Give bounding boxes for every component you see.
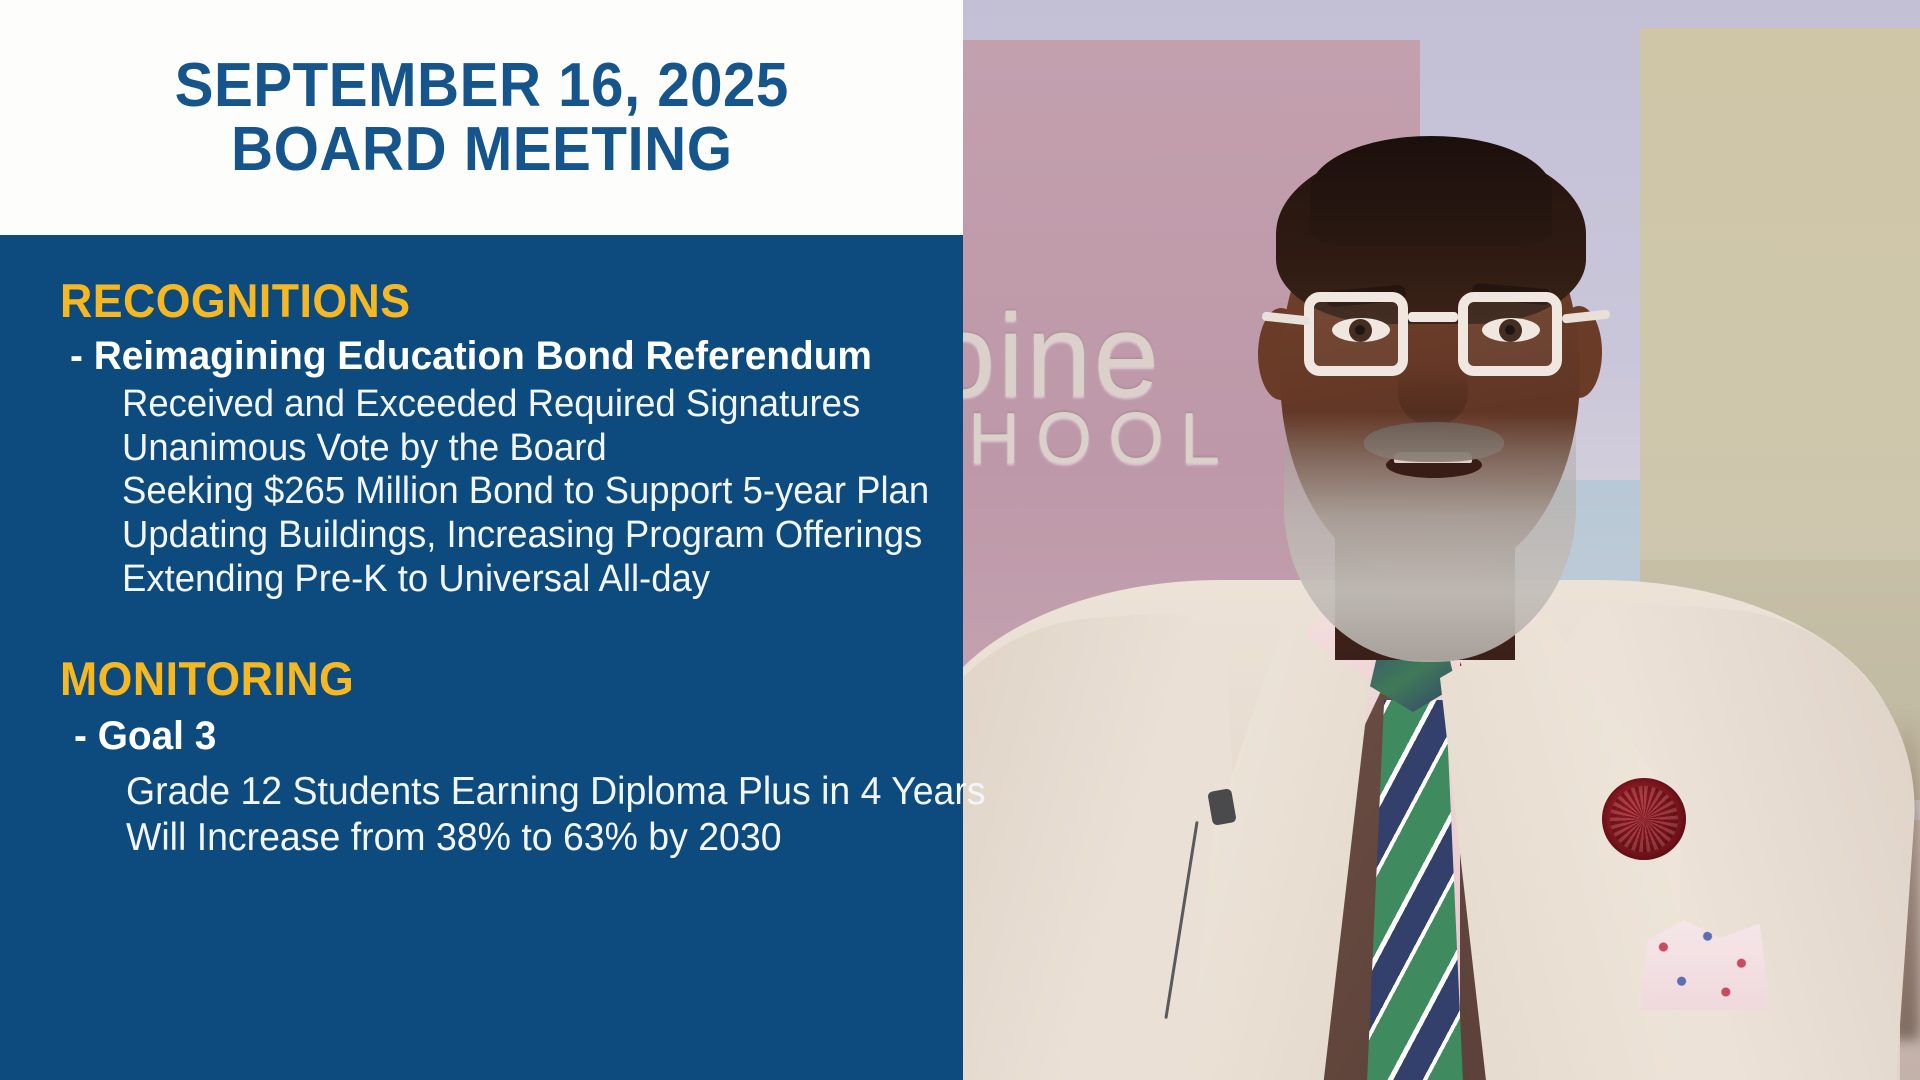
eyeglasses-bridge [1408,312,1458,322]
bullet-bond-referendum: - Reimagining Education Bond Referendum [70,334,907,379]
list-item: Seeking $265 Million Bond to Support 5-y… [122,470,901,514]
content-card: RECOGNITIONS - Reimagining Education Bon… [0,235,963,1080]
list-item: Extending Pre-K to Universal All-day [122,558,901,602]
section-heading-monitoring: MONITORING [60,651,889,706]
list-item: Unanimous Vote by the Board [122,427,901,471]
broadcast-slide: oine CHOOL [0,0,1920,1080]
speaker-figure [880,60,1920,1080]
mustache [1364,422,1504,462]
lapel-flower [1602,778,1686,860]
info-panel: SEPTEMBER 16, 2025 BOARD MEETING RECOGNI… [0,0,963,1080]
bullet-goal-3: - Goal 3 [74,714,907,759]
title-line-2: BOARD MEETING [231,118,732,181]
title-card: SEPTEMBER 16, 2025 BOARD MEETING [0,0,963,235]
monitoring-detail-list: Grade 12 Students Earning Diploma Plus i… [30,769,933,861]
section-heading-recognitions: RECOGNITIONS [60,273,889,328]
eyeglasses-left-lens [1304,292,1408,376]
eyeglasses-right-lens [1458,292,1562,376]
list-item: Received and Exceeded Required Signature… [122,383,901,427]
list-item: Grade 12 Students Earning Diploma Plus i… [126,769,901,815]
list-item: Updating Buildings, Increasing Program O… [122,514,901,558]
recognitions-detail-list: Received and Exceeded Required Signature… [30,383,933,601]
title-line-1: SEPTEMBER 16, 2025 [174,54,788,117]
list-item: Will Increase from 38% to 63% by 2030 [126,815,901,861]
hair-top [1310,136,1552,246]
pocket-square [1640,920,1770,1010]
